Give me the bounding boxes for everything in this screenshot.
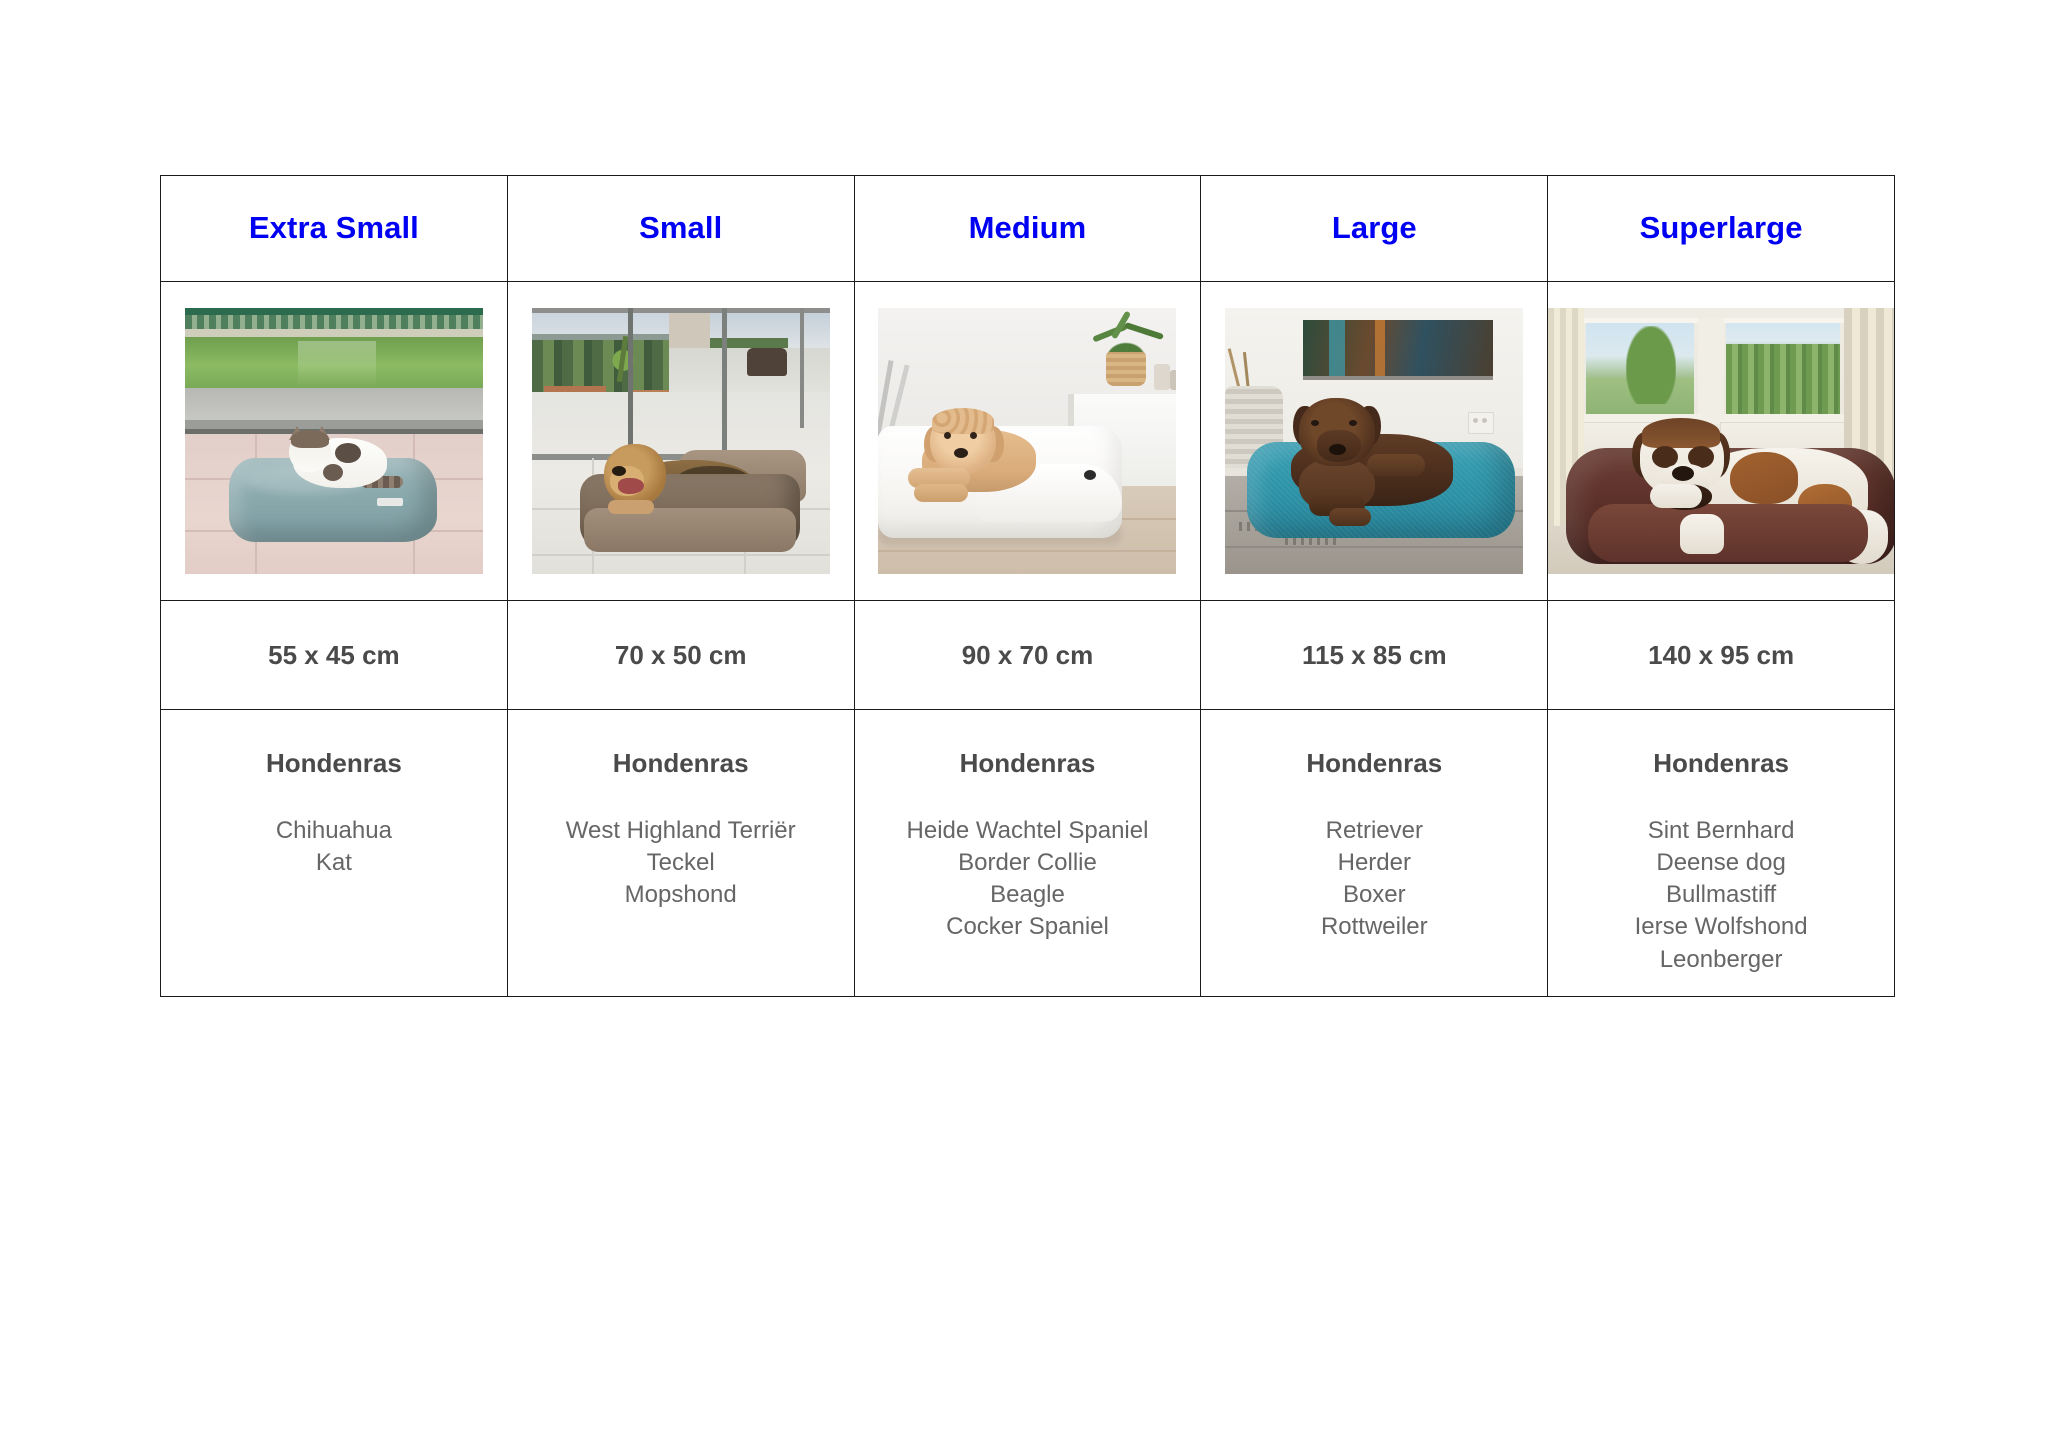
breed-cell-small: Hondenras West Highland TerriërTeckelMop…	[507, 710, 854, 997]
breed-item: Herder	[1201, 847, 1547, 879]
breed-item: Cocker Spaniel	[855, 911, 1201, 943]
dimension-cell-large: 115 x 85 cm	[1201, 601, 1548, 710]
breed-item: West Highland Terriër	[508, 815, 854, 847]
dimension-medium: 90 x 70 cm	[855, 640, 1201, 671]
photo-cell-superlarge	[1548, 282, 1895, 601]
breed-item: Kat	[161, 847, 507, 879]
breed-item: Leonberger	[1548, 944, 1894, 976]
dimension-cell-small: 70 x 50 cm	[507, 601, 854, 710]
photo-cell-extra-small	[161, 282, 508, 601]
breed-cell-extra-small: Hondenras ChihuahuaKat	[161, 710, 508, 997]
breed-item: Heide Wachtel Spaniel	[855, 815, 1201, 847]
header-cell-large: Large	[1201, 176, 1548, 282]
breed-cell-large: Hondenras RetrieverHerderBoxerRottweiler	[1201, 710, 1548, 997]
breed-cell-superlarge: Hondenras Sint BernhardDeense dogBullmas…	[1548, 710, 1895, 997]
photo-cell-large	[1201, 282, 1548, 601]
breed-item: Retriever	[1201, 815, 1547, 847]
photo-cell-small	[507, 282, 854, 601]
photo-small-terrier-on-bed	[532, 308, 830, 574]
header-cell-small: Small	[507, 176, 854, 282]
header-cell-superlarge: Superlarge	[1548, 176, 1895, 282]
size-name-superlarge: Superlarge	[1548, 211, 1894, 245]
breed-title-small: Hondenras	[508, 748, 854, 779]
breed-item: Border Collie	[855, 847, 1201, 879]
dimension-cell-medium: 90 x 70 cm	[854, 601, 1201, 710]
photo-medium-cockapoo-on-bed	[878, 308, 1176, 574]
breed-title-medium: Hondenras	[855, 748, 1201, 779]
size-name-small: Small	[508, 211, 854, 245]
breed-item: Deense dog	[1548, 847, 1894, 879]
breed-item: Beagle	[855, 879, 1201, 911]
photo-extra-small-cat-on-bed	[185, 308, 483, 574]
breed-list-extra-small: ChihuahuaKat	[161, 815, 507, 879]
breed-title-extra-small: Hondenras	[161, 748, 507, 779]
table-breed-row: Hondenras ChihuahuaKat Hondenras West Hi…	[161, 710, 1895, 997]
dimension-large: 115 x 85 cm	[1201, 640, 1547, 671]
photo-large-labrador-on-bed	[1225, 308, 1523, 574]
dimension-superlarge: 140 x 95 cm	[1548, 640, 1894, 671]
breed-title-large: Hondenras	[1201, 748, 1547, 779]
breed-item: Bullmastiff	[1548, 879, 1894, 911]
breed-item: Boxer	[1201, 879, 1547, 911]
dog-bed-size-table: Extra Small Small Medium Large Superlarg…	[160, 175, 1895, 997]
breed-item: Teckel	[508, 847, 854, 879]
photo-superlarge-saint-bernard-on-bed	[1548, 308, 1894, 574]
breed-item: Ierse Wolfshond	[1548, 911, 1894, 943]
breed-list-small: West Highland TerriërTeckelMopshond	[508, 815, 854, 911]
breed-item: Sint Bernhard	[1548, 815, 1894, 847]
dimension-cell-superlarge: 140 x 95 cm	[1548, 601, 1895, 710]
table-header-row: Extra Small Small Medium Large Superlarg…	[161, 176, 1895, 282]
dimension-cell-extra-small: 55 x 45 cm	[161, 601, 508, 710]
size-name-medium: Medium	[855, 211, 1201, 245]
dimension-extra-small: 55 x 45 cm	[161, 640, 507, 671]
breed-item: Mopshond	[508, 879, 854, 911]
breed-title-superlarge: Hondenras	[1548, 748, 1894, 779]
size-name-large: Large	[1201, 211, 1547, 245]
breed-list-medium: Heide Wachtel SpanielBorder CollieBeagle…	[855, 815, 1201, 944]
breed-list-large: RetrieverHerderBoxerRottweiler	[1201, 815, 1547, 944]
photo-cell-medium	[854, 282, 1201, 601]
breed-list-superlarge: Sint BernhardDeense dogBullmastiffIerse …	[1548, 815, 1894, 976]
page-canvas: Extra Small Small Medium Large Superlarg…	[0, 0, 2048, 1448]
breed-item: Rottweiler	[1201, 911, 1547, 943]
size-name-extra-small: Extra Small	[161, 211, 507, 245]
dimension-small: 70 x 50 cm	[508, 640, 854, 671]
header-cell-medium: Medium	[854, 176, 1201, 282]
table-photo-row	[161, 282, 1895, 601]
header-cell-extra-small: Extra Small	[161, 176, 508, 282]
breed-item: Chihuahua	[161, 815, 507, 847]
table-dimension-row: 55 x 45 cm 70 x 50 cm 90 x 70 cm 115 x 8…	[161, 601, 1895, 710]
breed-cell-medium: Hondenras Heide Wachtel SpanielBorder Co…	[854, 710, 1201, 997]
